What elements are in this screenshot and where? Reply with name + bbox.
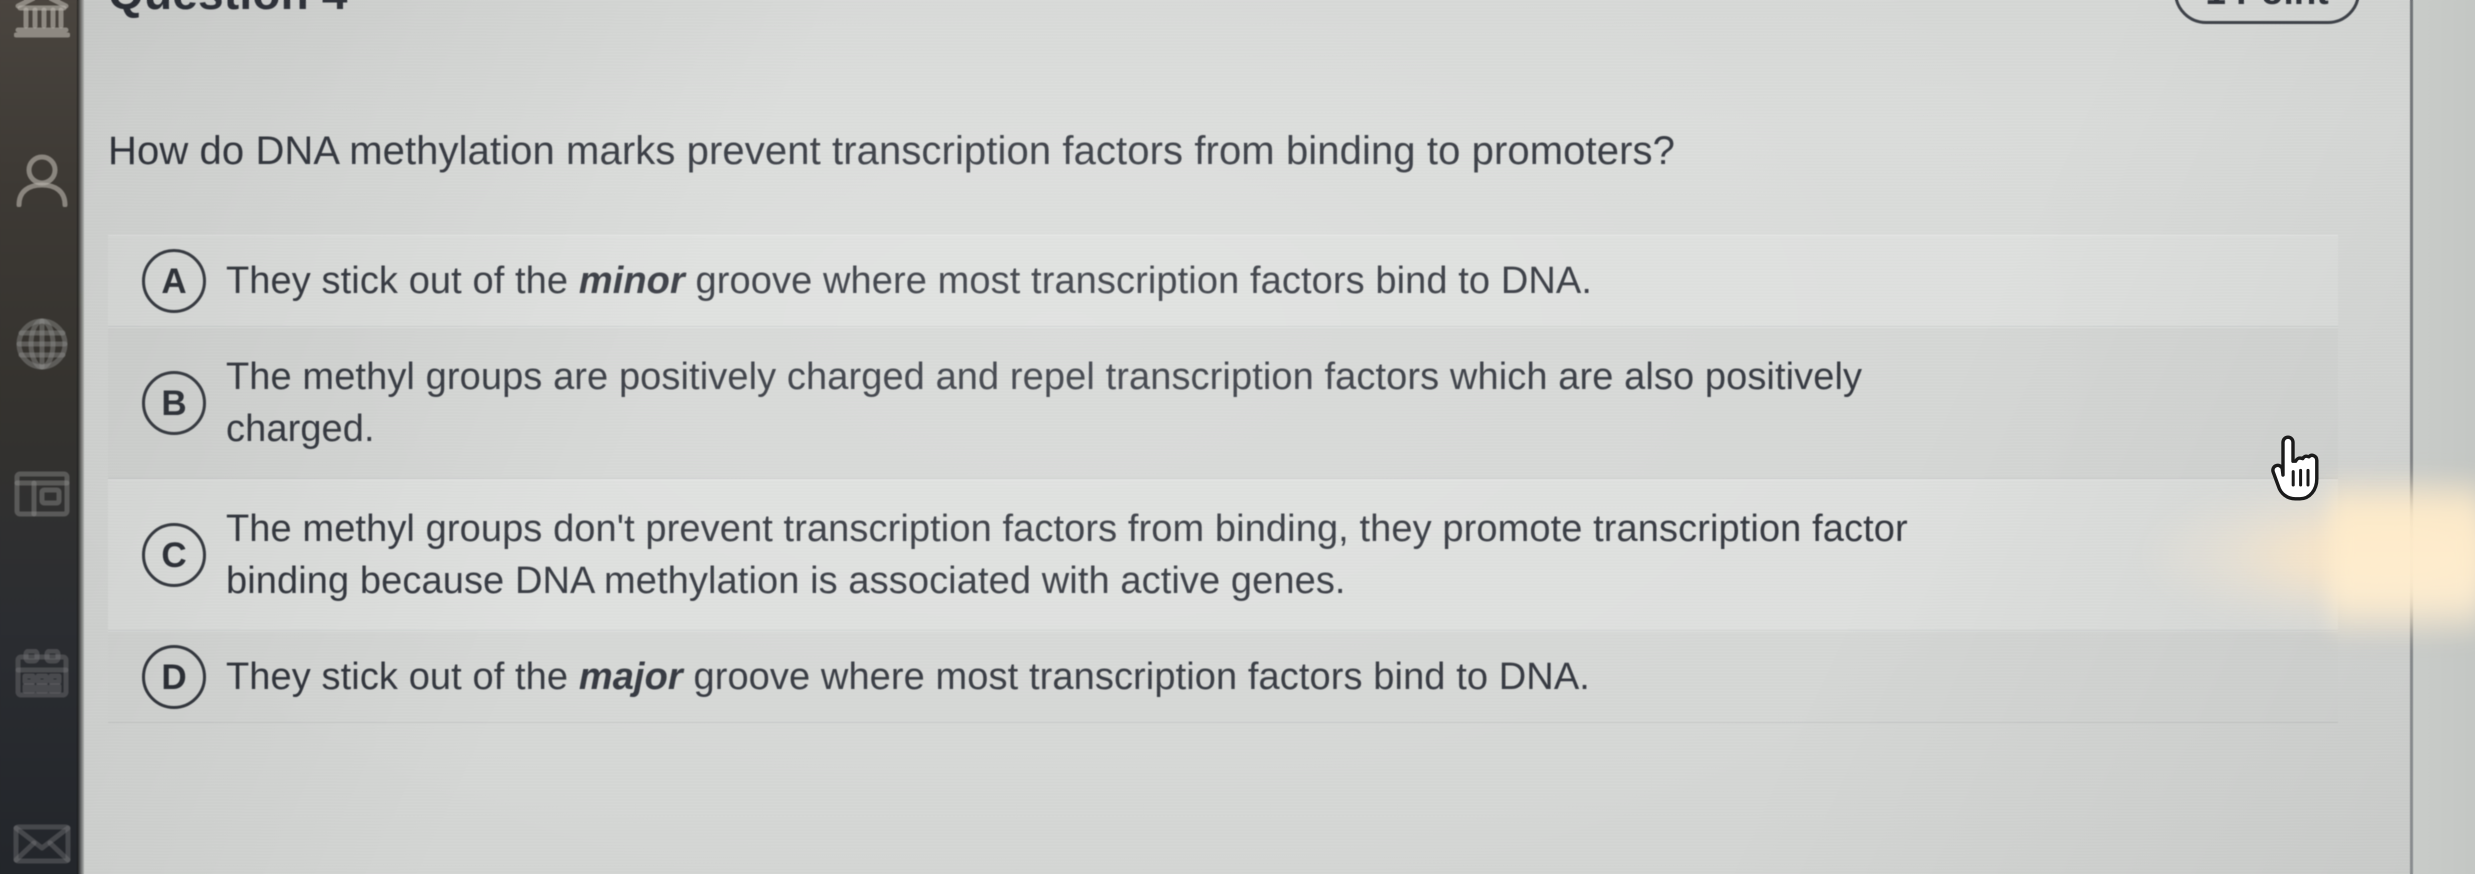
point-badge-label: 1 Point [2205, 0, 2328, 13]
option-text-d-before: They stick out of the [226, 656, 579, 698]
sidebar-item-layout[interactable] [6, 462, 78, 526]
globe-icon [15, 317, 69, 371]
option-text-d: They stick out of the major groove where… [226, 651, 1590, 703]
option-text-c: The methyl groups don't prevent transcri… [226, 503, 2041, 607]
option-text-c-before: The methyl groups don't prevent transcri… [226, 508, 1908, 602]
option-letter-bubble-c: C [142, 523, 206, 587]
answer-option-c[interactable]: C The methyl groups don't prevent transc… [108, 479, 2338, 631]
option-text-a-emphasis: minor [579, 260, 685, 302]
background-wall [2413, 0, 2475, 874]
option-letter-bubble-d: D [142, 645, 206, 709]
option-text-a: They stick out of the minor groove where… [226, 255, 1592, 307]
option-letter-a: A [161, 264, 186, 299]
sidebar-item-bank[interactable] [6, 0, 78, 46]
option-text-b-before: The methyl groups are positively charged… [226, 356, 1862, 450]
sidebar-item-globe[interactable] [6, 312, 78, 376]
point-badge: 1 Point [2174, 0, 2360, 24]
option-text-d-after: groove where most transcription factors … [683, 656, 1590, 698]
option-text-b: The methyl groups are positively charged… [226, 351, 1966, 455]
option-letter-d: D [161, 660, 186, 695]
mail-envelope-icon [13, 822, 71, 866]
page-title: Question 4 [108, 0, 348, 20]
option-text-d-emphasis: major [579, 656, 683, 698]
answer-options-list: A They stick out of the minor groove whe… [108, 235, 2338, 723]
sidebar-item-profile[interactable] [6, 148, 78, 212]
option-letter-bubble-a: A [142, 249, 206, 313]
question-header: Question 4 1 Point [108, 0, 2398, 36]
app-sidebar-rail [0, 0, 84, 874]
quiz-page: Question 4 1 Point How do DNA methylatio… [84, 0, 2412, 874]
option-letter-bubble-b: B [142, 371, 206, 435]
option-text-a-before: They stick out of the [226, 260, 579, 302]
option-letter-b: B [161, 386, 186, 421]
monitor-photo: Question 4 1 Point How do DNA methylatio… [0, 0, 2475, 874]
sidebar-item-calendar[interactable] [6, 642, 78, 706]
person-icon [15, 153, 69, 207]
layout-panel-icon [14, 470, 70, 518]
question-stem: How do DNA methylation marks prevent tra… [108, 124, 2288, 178]
monitor-screen: Question 4 1 Point How do DNA methylatio… [84, 0, 2412, 874]
answer-option-a[interactable]: A They stick out of the minor groove whe… [108, 235, 2338, 327]
monitor-bezel-edge [2410, 0, 2413, 874]
bank-icon [14, 0, 70, 38]
answer-option-d[interactable]: D They stick out of the major groove whe… [108, 631, 2338, 723]
calendar-icon [14, 649, 70, 699]
answer-option-b[interactable]: B The methyl groups are positively charg… [108, 327, 2338, 479]
option-text-a-after: groove where most transcription factors … [685, 260, 1592, 302]
sidebar-item-mail[interactable] [6, 812, 78, 874]
option-letter-c: C [161, 538, 186, 573]
